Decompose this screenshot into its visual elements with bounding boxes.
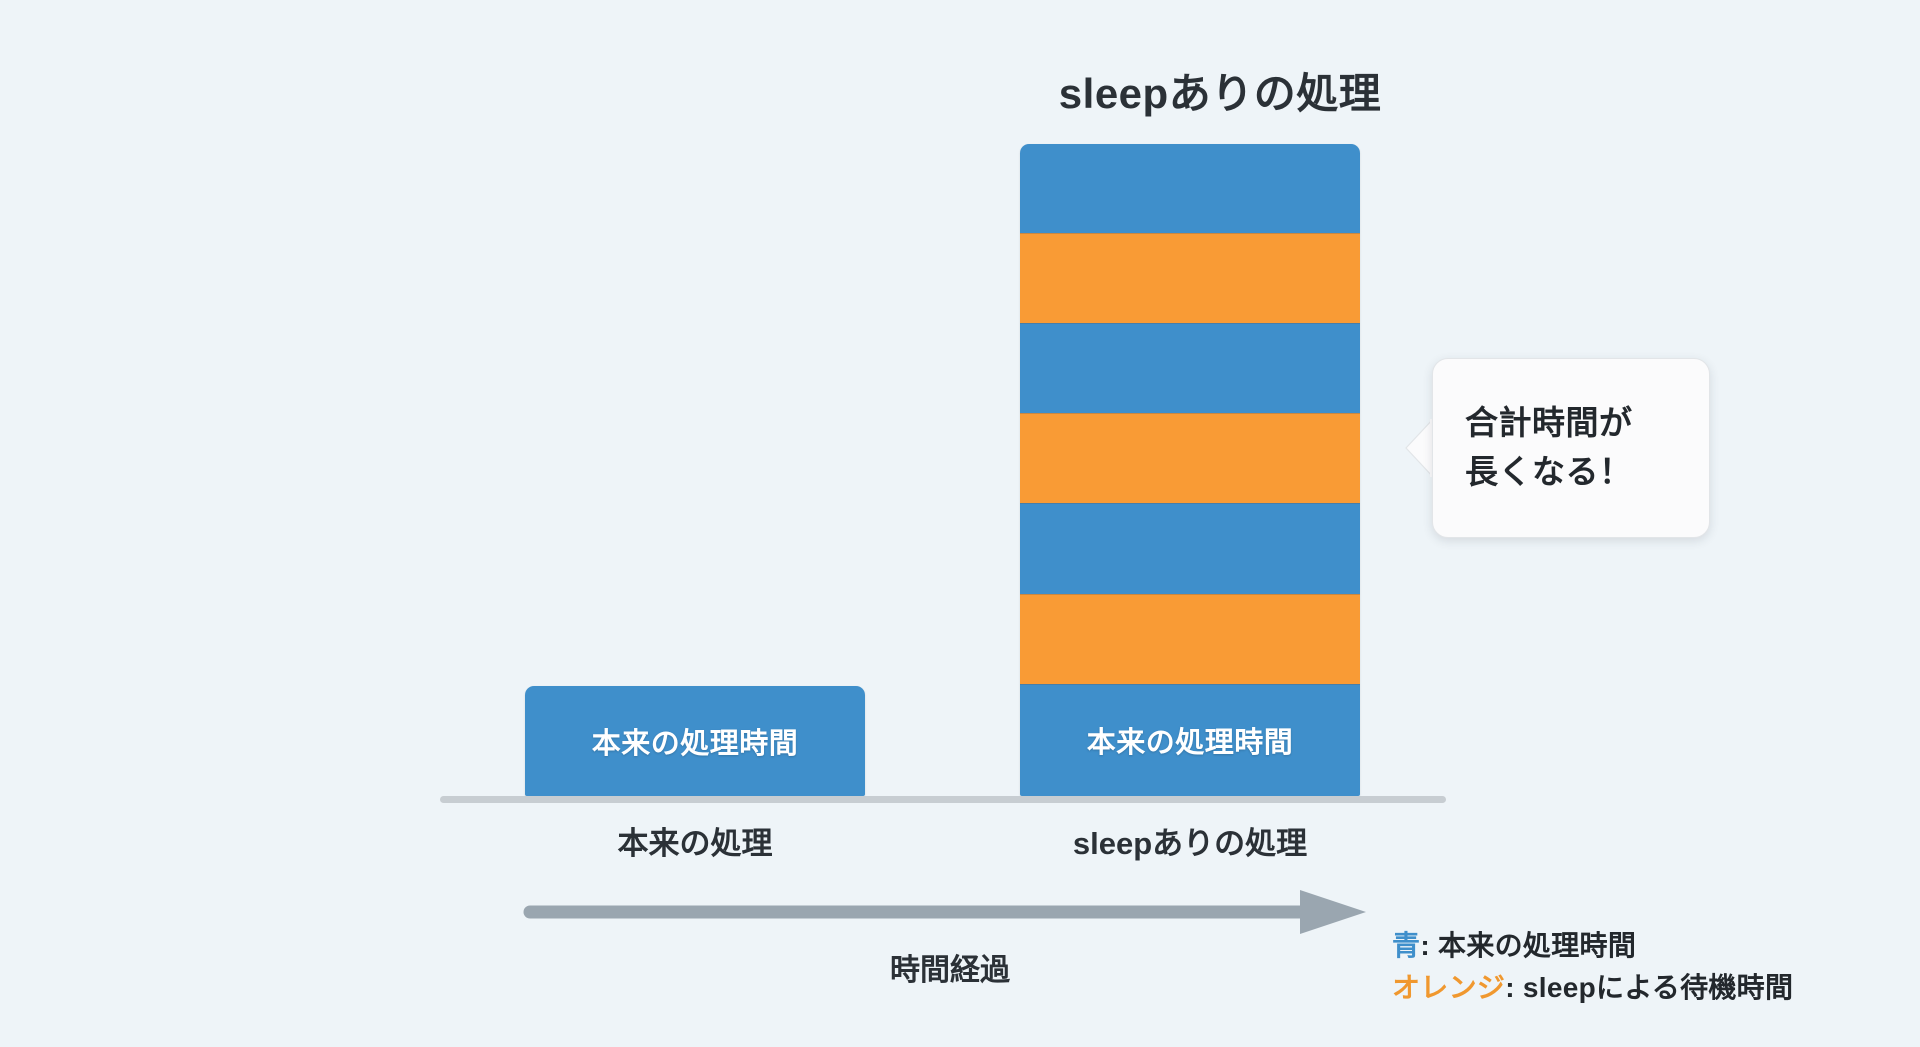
diagram-canvas: sleepありの処理 本来の処理時間 本来の処理時間 本来の処理 sleepあり… (0, 0, 1920, 1047)
legend-key-orange: オレンジ (1392, 972, 1505, 1003)
legend-row-orange: オレンジ: sleepによる待機時間 (1392, 967, 1912, 1009)
callout-bubble: 合計時間が 長くなる！ (1432, 358, 1710, 538)
segment-work-1 (1020, 144, 1360, 233)
segment-work-4: 本来の処理時間 (1020, 684, 1360, 796)
legend-separator: : (1420, 930, 1438, 961)
category-label-original: 本来の処理 (525, 818, 865, 863)
category-label-sleep: sleepありの処理 (1020, 818, 1360, 863)
callout-line-1: 合計時間が (1465, 399, 1709, 448)
bar-segment-label: 本来の処理時間 (1087, 719, 1294, 761)
segment-sleep-2 (1020, 413, 1360, 503)
legend: 青: 本来の処理時間 オレンジ: sleepによる待機時間 (1392, 925, 1912, 1009)
bar-original-processing: 本来の処理時間 (525, 686, 865, 796)
baseline-axis (440, 796, 1446, 803)
bar-sleep-processing: 本来の処理時間 (1020, 144, 1360, 796)
bar-segment-label: 本来の処理時間 (592, 720, 799, 762)
legend-key-blue: 青 (1392, 930, 1420, 961)
legend-text-orange: sleepによる待機時間 (1523, 972, 1793, 1003)
chart-title: sleepありの処理 (1010, 60, 1430, 121)
segment-work-2 (1020, 323, 1360, 413)
segment-sleep-1 (1020, 233, 1360, 323)
time-axis-label: 時間経過 (700, 945, 1200, 989)
segment-work-3 (1020, 503, 1360, 593)
callout-tail-icon (1404, 418, 1434, 478)
segment-sleep-3 (1020, 594, 1360, 684)
time-arrow-icon (520, 884, 1380, 940)
legend-text-blue: 本来の処理時間 (1438, 930, 1636, 961)
legend-separator: : (1505, 972, 1523, 1003)
legend-row-blue: 青: 本来の処理時間 (1392, 925, 1912, 967)
callout-line-2: 長くなる！ (1465, 448, 1709, 497)
